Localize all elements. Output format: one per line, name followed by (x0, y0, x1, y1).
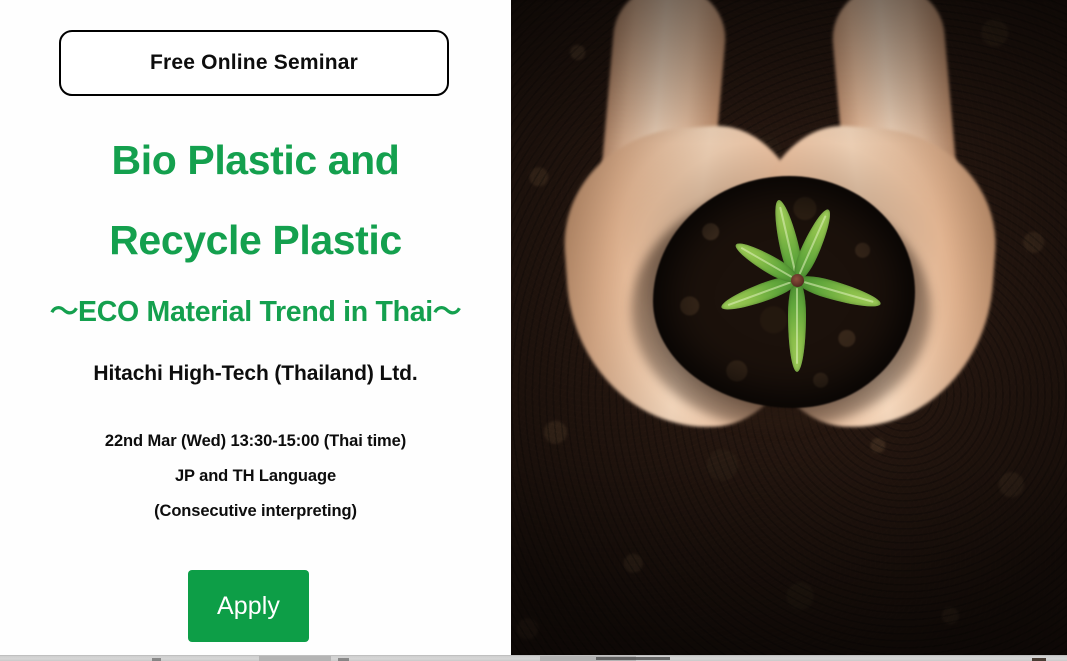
left-text-panel: Free Online Seminar Bio Plastic and Recy… (0, 0, 511, 655)
free-online-seminar-badge: Free Online Seminar (59, 30, 449, 96)
seminar-badge-label: Free Online Seminar (150, 51, 358, 75)
title-block: Bio Plastic and Recycle Plastic (0, 120, 511, 280)
title-line-2: Recycle Plastic (0, 200, 511, 280)
event-details-block: 22nd Mar (Wed) 13:30-15:00 (Thai time) J… (0, 424, 511, 529)
subtitle-eco-material-trend: ～ECO Material Trend in Thai～ (0, 289, 511, 330)
toolbar-strip-dark-mark (596, 657, 670, 660)
apply-button[interactable]: Apply (188, 570, 309, 642)
title-line-1: Bio Plastic and (0, 120, 511, 200)
company-name: Hitachi High-Tech (Thailand) Ltd. (0, 362, 511, 386)
seminar-slide: Free Online Seminar Bio Plastic and Recy… (0, 0, 1067, 661)
detail-language: JP and TH Language (0, 459, 511, 494)
detail-date-time: 22nd Mar (Wed) 13:30-15:00 (Thai time) (0, 424, 511, 459)
toolbar-strip-plate (259, 656, 331, 661)
bottom-toolbar-strip[interactable] (0, 655, 1067, 661)
apply-button-label: Apply (217, 592, 280, 621)
photo-vignette (511, 0, 1067, 655)
hands-holding-soil-with-seedling-photo (511, 0, 1067, 655)
detail-interpreting: (Consecutive interpreting) (0, 494, 511, 529)
